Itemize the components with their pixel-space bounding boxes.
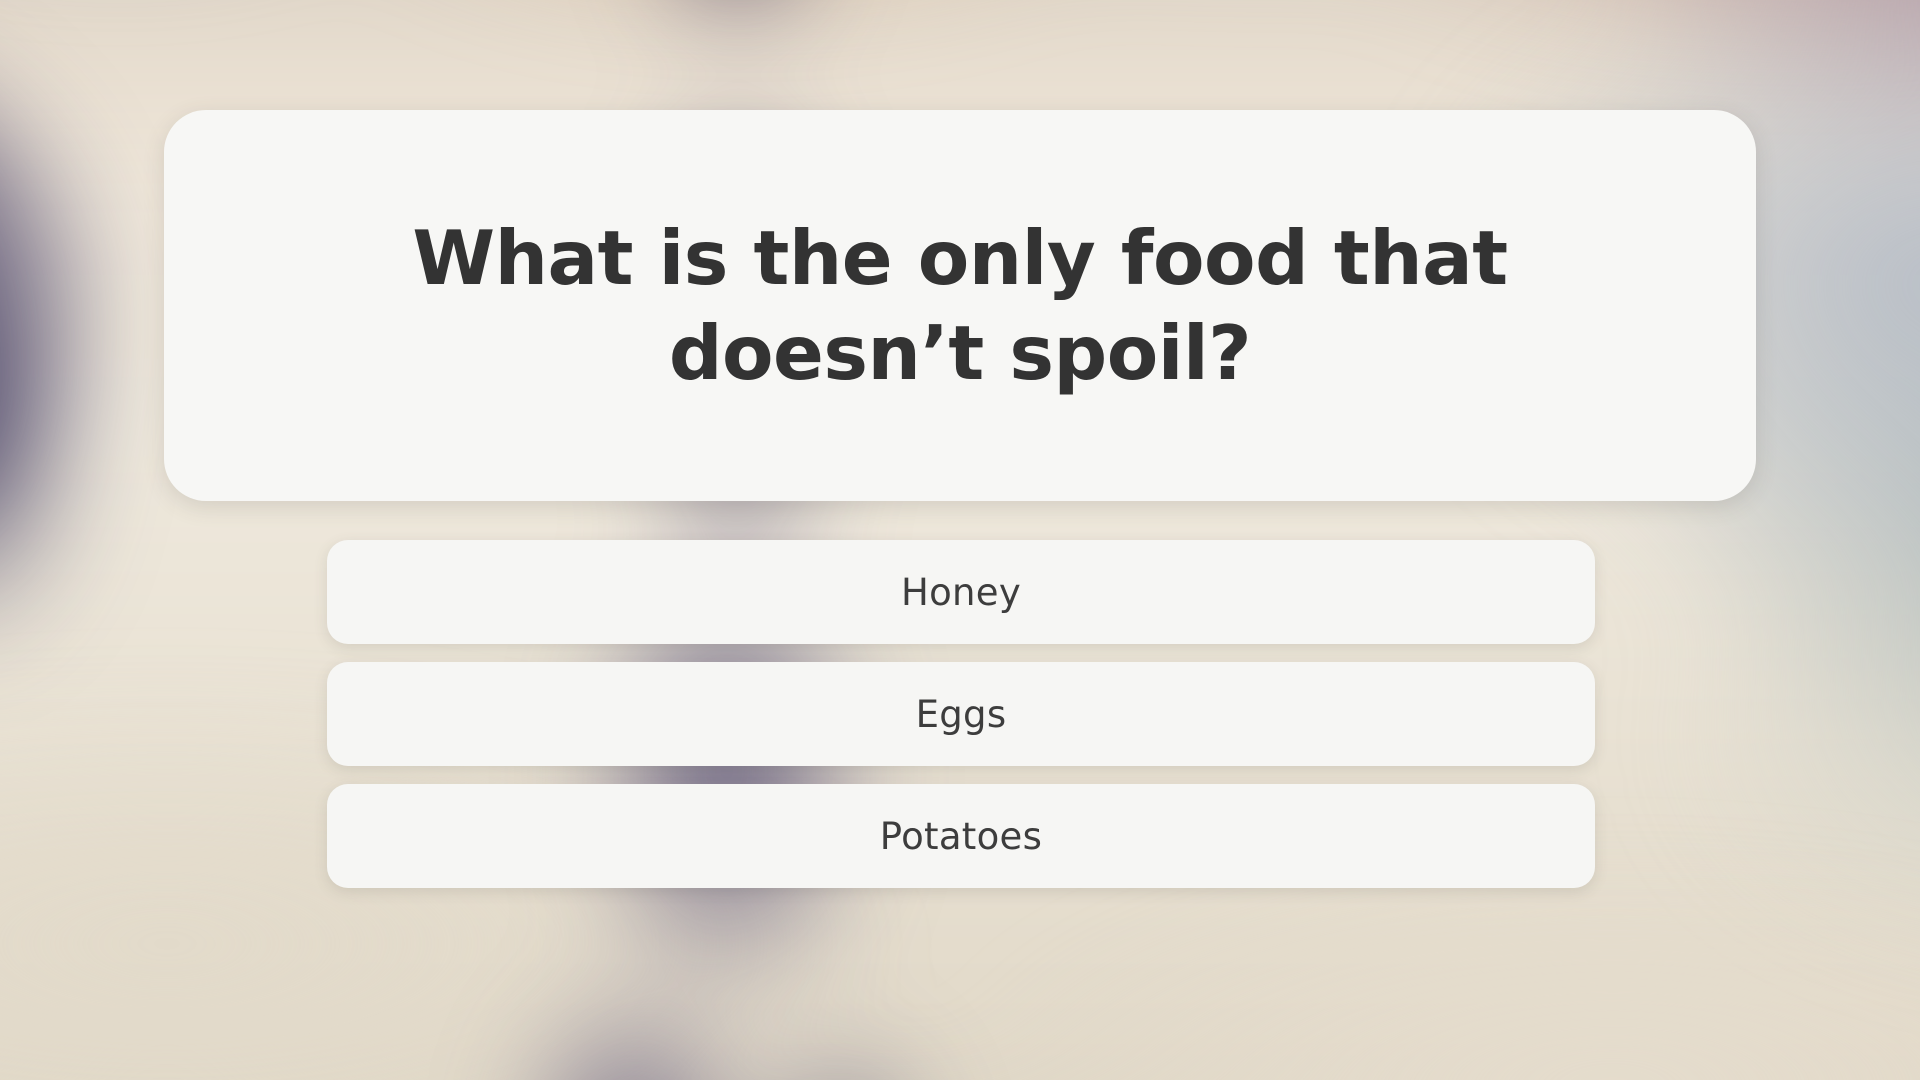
answer-option-label: Potatoes <box>880 815 1042 858</box>
answer-option-label: Honey <box>901 571 1021 614</box>
answer-option-potatoes[interactable]: Potatoes <box>327 784 1595 888</box>
quiz-screen: What is the only food that doesn’t spoil… <box>0 0 1920 1080</box>
answer-options-list: Honey Eggs Potatoes <box>327 540 1595 888</box>
answer-option-honey[interactable]: Honey <box>327 540 1595 644</box>
quiz-content: What is the only food that doesn’t spoil… <box>0 0 1920 1080</box>
answer-option-eggs[interactable]: Eggs <box>327 662 1595 766</box>
answer-option-label: Eggs <box>916 693 1007 736</box>
question-card: What is the only food that doesn’t spoil… <box>164 110 1756 501</box>
question-text: What is the only food that doesn’t spoil… <box>370 211 1550 400</box>
